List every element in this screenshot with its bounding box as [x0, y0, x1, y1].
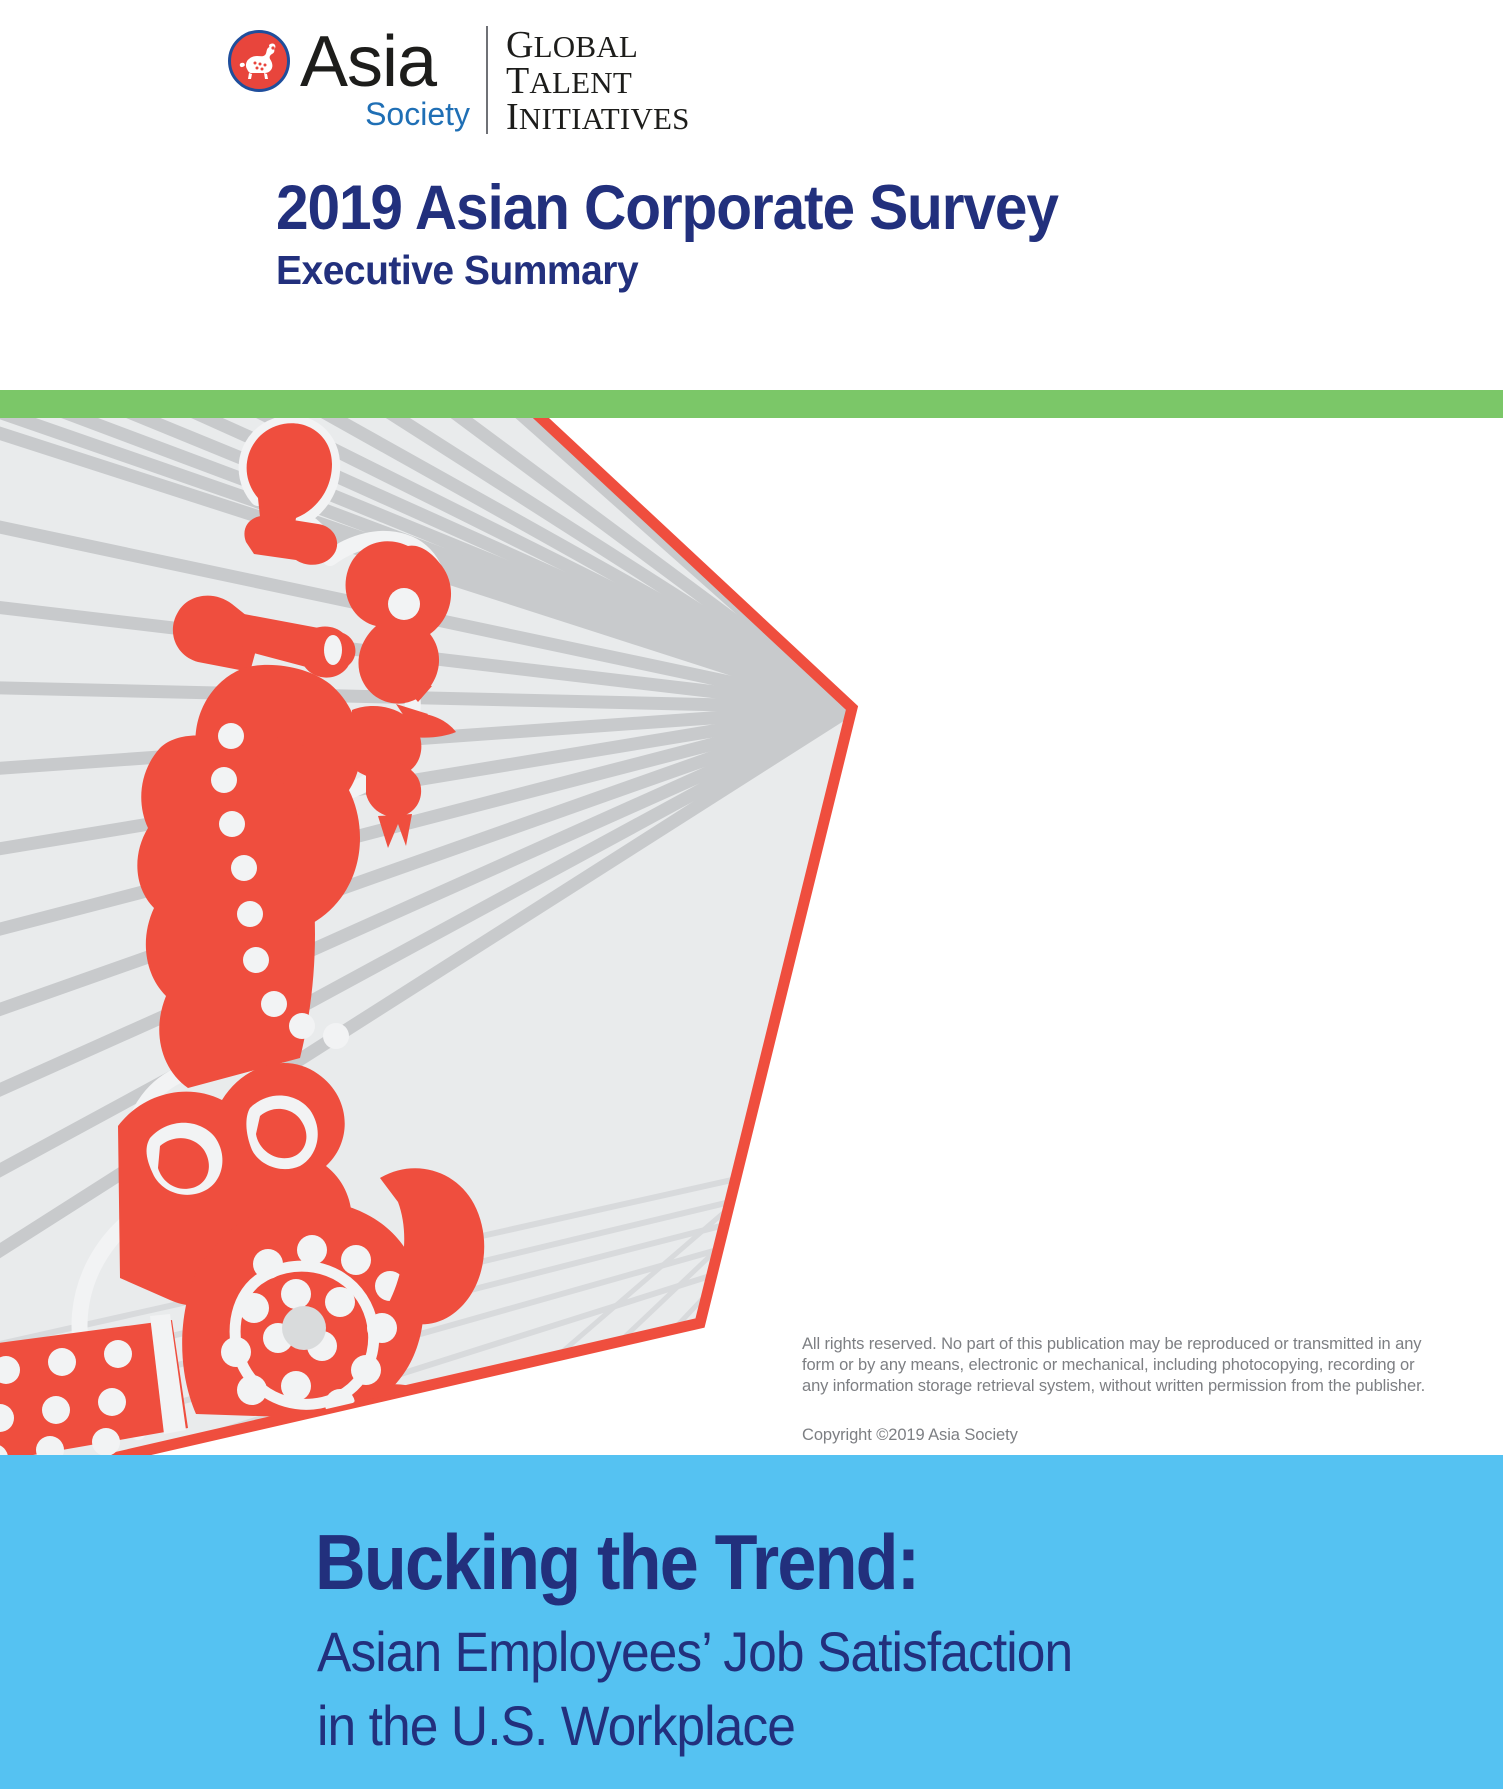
- page-subtitle: Executive Summary: [276, 244, 638, 296]
- cover-illustration-panel: [0, 418, 1503, 1455]
- page-header: Asia Society GLOBAL TALENT INITIATIVES 2…: [0, 0, 1503, 390]
- rights-statement: All rights reserved. No part of this pub…: [802, 1334, 1432, 1397]
- asia-society-logo: Asia Society GLOBAL TALENT INITIATIVES: [228, 24, 690, 129]
- report-subtitle: Asian Employees’ Job Satisfaction in the…: [317, 1615, 1072, 1763]
- report-subtitle-line-1: Asian Employees’ Job Satisfaction: [317, 1615, 1072, 1689]
- report-title-banner: Bucking the Trend: Asian Employees’ Job …: [0, 1455, 1503, 1789]
- asia-society-lion-roundel-icon: [228, 30, 290, 92]
- logo-wordmark: Asia Society: [300, 24, 470, 134]
- global-talent-initiatives-lockup: GLOBAL TALENT INITIATIVES: [506, 24, 690, 136]
- page-title: 2019 Asian Corporate Survey: [276, 172, 1058, 244]
- gti-line-initiatives: INITIATIVES: [506, 100, 690, 136]
- green-accent-bar: [0, 390, 1503, 418]
- copyright-line: Copyright ©2019 Asia Society: [802, 1425, 1432, 1446]
- logo-asia-text: Asia: [300, 26, 436, 98]
- gti-line-talent: TALENT: [506, 64, 690, 100]
- report-title: Bucking the Trend:: [315, 1520, 918, 1604]
- stylized-asian-lion-singha-illustration: [0, 418, 1503, 1455]
- logo-divider: [486, 26, 488, 134]
- copyright-block: All rights reserved. No part of this pub…: [802, 1334, 1432, 1446]
- report-subtitle-line-2: in the U.S. Workplace: [317, 1689, 1072, 1763]
- gti-line-global: GLOBAL: [506, 28, 690, 64]
- logo-society-text: Society: [365, 98, 470, 130]
